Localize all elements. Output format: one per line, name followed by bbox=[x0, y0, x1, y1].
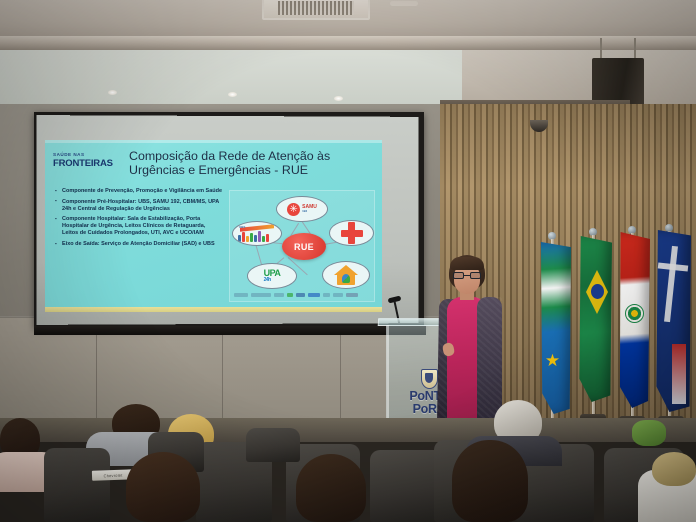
samu-label: SAMU 192 bbox=[302, 205, 317, 213]
audience-head bbox=[296, 454, 366, 522]
flag-cloth bbox=[578, 236, 612, 402]
rue-network-diagram: SAMU 192 UBS bbox=[229, 190, 375, 302]
slide-bullet: Componente Hospitalar: Sala de Estabiliz… bbox=[55, 216, 223, 237]
flag-paraguai bbox=[614, 226, 654, 426]
diagram-node-ubs: UBS bbox=[232, 221, 282, 246]
flag-globe-icon bbox=[591, 284, 604, 299]
slide-top-edge bbox=[45, 140, 382, 143]
slide-bullet: Eixo de Saída: Serviço de Atenção Domici… bbox=[55, 241, 223, 248]
slide-title: Composição da Rede de Atenção às Urgênci… bbox=[129, 149, 377, 178]
audience-head bbox=[652, 452, 696, 486]
logo-line2: FRONTEIRAS bbox=[53, 159, 125, 169]
audience-chair bbox=[246, 428, 300, 462]
diagram-node-center-rue: RUE bbox=[282, 233, 326, 260]
flag-red-stripe-icon bbox=[672, 344, 686, 404]
downlight bbox=[108, 90, 117, 95]
hair-front bbox=[450, 257, 484, 270]
smoke-detector-icon bbox=[390, 1, 418, 6]
ubs-icon: UBS bbox=[238, 226, 276, 242]
flag-mato-grosso-do-sul: ★ bbox=[534, 232, 574, 430]
diagram-node-upa: UPA 24h bbox=[247, 263, 297, 289]
presentation-slide: SAÚDE NAS FRONTEIRAS Composição da Rede … bbox=[45, 140, 382, 312]
flag-seal-icon bbox=[625, 304, 644, 323]
slide-bullet-list: Componente de Prevenção, Promoção e Vigi… bbox=[55, 188, 223, 252]
saude-nas-fronteiras-logo: SAÚDE NAS FRONTEIRAS bbox=[53, 153, 125, 168]
flag-institucional bbox=[652, 224, 694, 424]
audience-head bbox=[126, 452, 200, 522]
diagram-node-hospital bbox=[329, 220, 374, 246]
center-label: RUE bbox=[294, 242, 314, 252]
audience-head bbox=[632, 420, 666, 446]
slide-bullet: Componente de Prevenção, Promoção e Vigi… bbox=[55, 188, 223, 195]
upa-label: UPA 24h bbox=[264, 270, 281, 282]
flag-star-icon: ★ bbox=[544, 352, 561, 369]
logo-line1: SAÚDE NAS bbox=[53, 152, 85, 157]
downlight bbox=[228, 92, 237, 97]
diagram-node-samu: SAMU 192 bbox=[276, 196, 328, 222]
speaker-bracket bbox=[634, 38, 636, 60]
diagram-footer-logos bbox=[234, 291, 372, 298]
samu-star-icon bbox=[287, 203, 300, 216]
downlight bbox=[334, 96, 343, 101]
slide-bullet: Componente Pré-Hospitalar: UBS, SAMU 192… bbox=[55, 199, 223, 213]
audience-head bbox=[452, 440, 528, 522]
slide-footer-band bbox=[45, 307, 382, 312]
audience-chair bbox=[44, 448, 110, 522]
ac-vent-icon bbox=[262, 0, 370, 20]
ceiling-soffit-right bbox=[462, 50, 696, 104]
hospital-cross-icon bbox=[341, 222, 363, 244]
flag-cloth bbox=[539, 242, 571, 414]
speaker-bracket bbox=[600, 38, 602, 60]
diagram-node-home-care bbox=[322, 261, 370, 289]
eyeglasses-icon bbox=[453, 272, 481, 279]
auditorium-scene: SAÚDE NAS FRONTEIRAS Composição da Rede … bbox=[0, 0, 696, 522]
home-care-icon bbox=[334, 265, 358, 285]
projection-screen-bottom-bar bbox=[34, 326, 426, 335]
flag-brasil bbox=[572, 228, 614, 428]
